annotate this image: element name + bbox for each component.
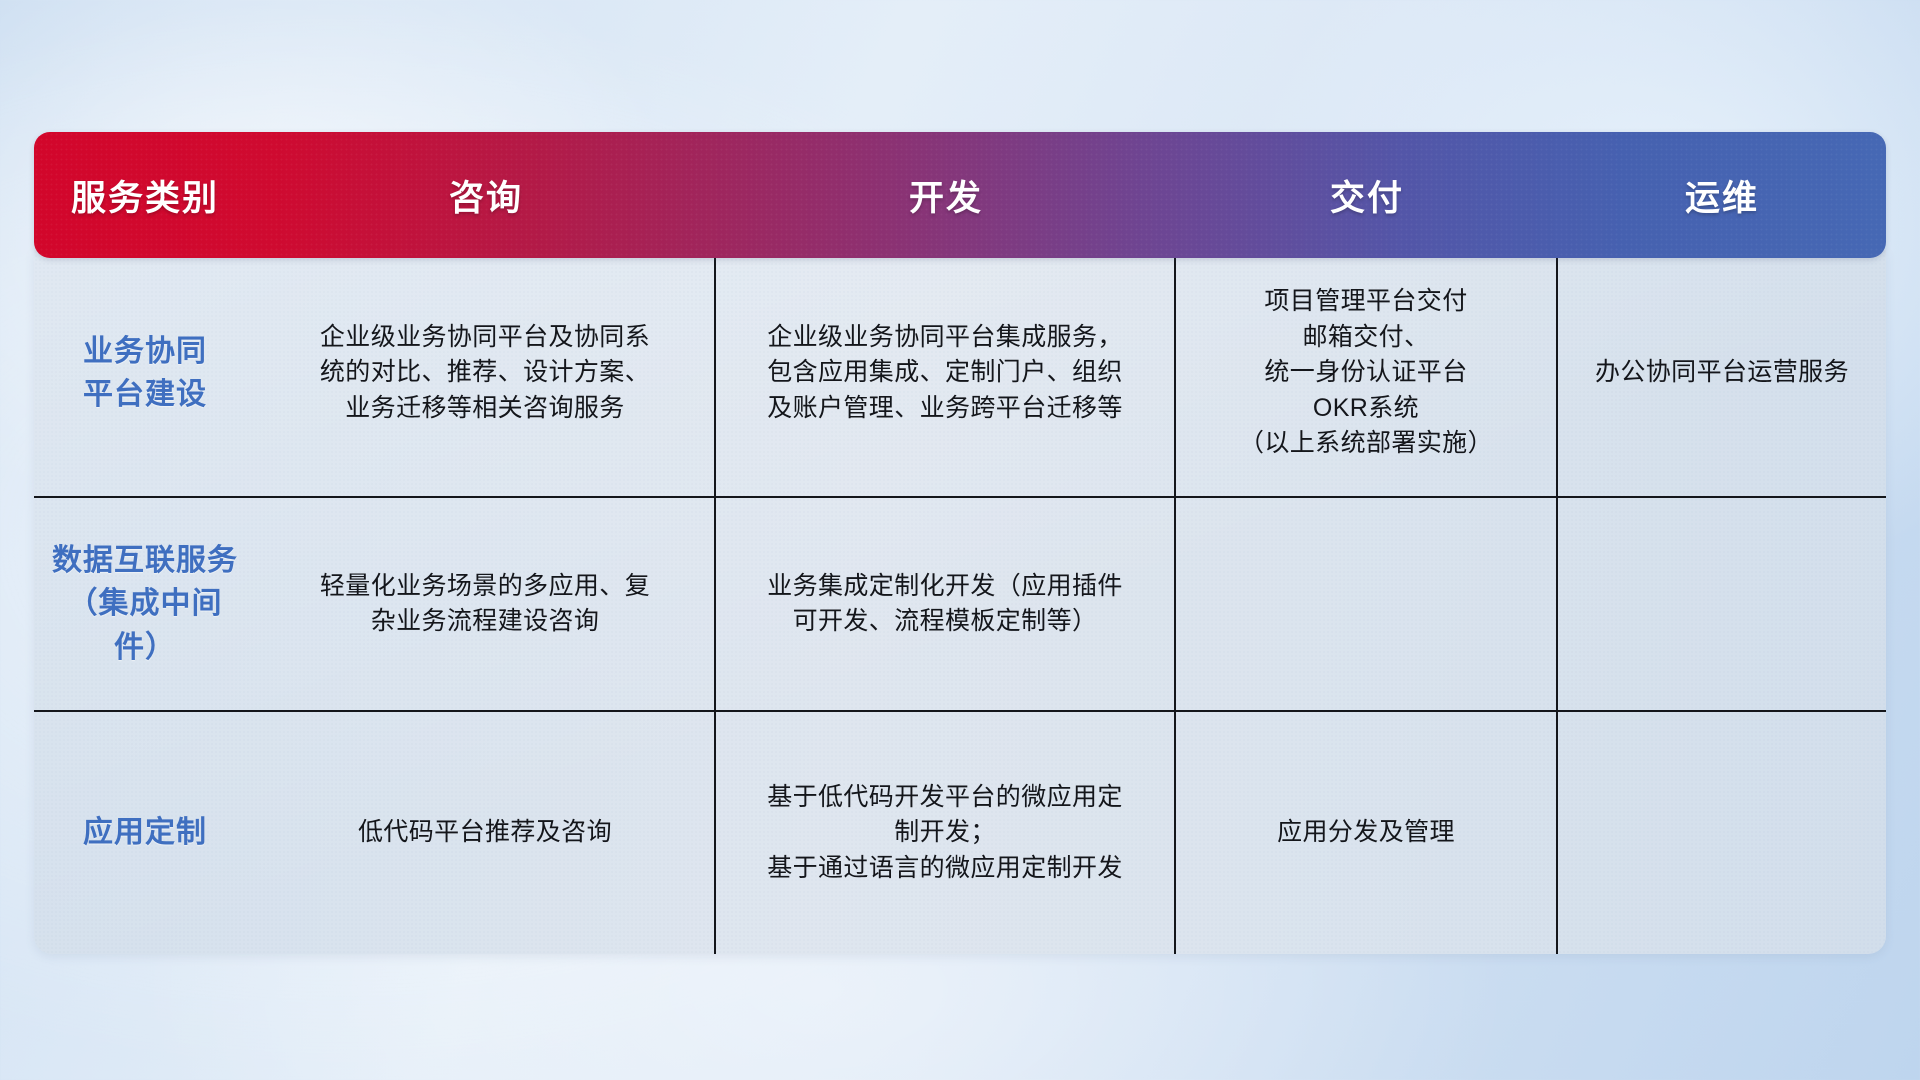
column-header-delivery: 交付 (1176, 132, 1558, 258)
cell-development: 业务集成定制化开发（应用插件 可开发、流程模板定制等） (716, 498, 1176, 710)
table-header-row: 服务类别 咨询 开发 交付 运维 (34, 132, 1886, 258)
service-matrix-table: 服务类别 咨询 开发 交付 运维 业务协同 平台建设 企业级业务协同平台及协同系… (34, 132, 1886, 952)
cell-operations: 办公协同平台运营服务 (1558, 250, 1886, 496)
table-body: 业务协同 平台建设 企业级业务协同平台及协同系 统的对比、推荐、设计方案、 业务… (34, 250, 1886, 954)
table-row: 应用定制 低代码平台推荐及咨询 基于低代码开发平台的微应用定 制开发； 基于通过… (34, 712, 1886, 954)
row-label: 业务协同 平台建设 (34, 250, 256, 496)
cell-delivery (1176, 498, 1558, 710)
cell-delivery: 应用分发及管理 (1176, 712, 1558, 954)
column-header-development: 开发 (716, 132, 1176, 258)
cell-development: 基于低代码开发平台的微应用定 制开发； 基于通过语言的微应用定制开发 (716, 712, 1176, 954)
column-header-operations: 运维 (1558, 132, 1886, 258)
row-label: 应用定制 (34, 712, 256, 954)
cell-operations (1558, 498, 1886, 710)
table-row: 业务协同 平台建设 企业级业务协同平台及协同系 统的对比、推荐、设计方案、 业务… (34, 250, 1886, 498)
table-row: 数据互联服务 （集成中间件） 轻量化业务场景的多应用、复 杂业务流程建设咨询 业… (34, 498, 1886, 712)
cell-consulting: 低代码平台推荐及咨询 (256, 712, 716, 954)
cell-development: 企业级业务协同平台集成服务， 包含应用集成、定制门户、组织 及账户管理、业务跨平… (716, 250, 1176, 496)
column-header-category: 服务类别 (34, 132, 256, 258)
cell-delivery: 项目管理平台交付 邮箱交付、 统一身份认证平台 OKR系统 （以上系统部署实施） (1176, 250, 1558, 496)
cell-consulting: 轻量化业务场景的多应用、复 杂业务流程建设咨询 (256, 498, 716, 710)
row-label: 数据互联服务 （集成中间件） (34, 498, 256, 710)
cell-consulting: 企业级业务协同平台及协同系 统的对比、推荐、设计方案、 业务迁移等相关咨询服务 (256, 250, 716, 496)
column-header-consulting: 咨询 (256, 132, 716, 258)
cell-operations (1558, 712, 1886, 954)
